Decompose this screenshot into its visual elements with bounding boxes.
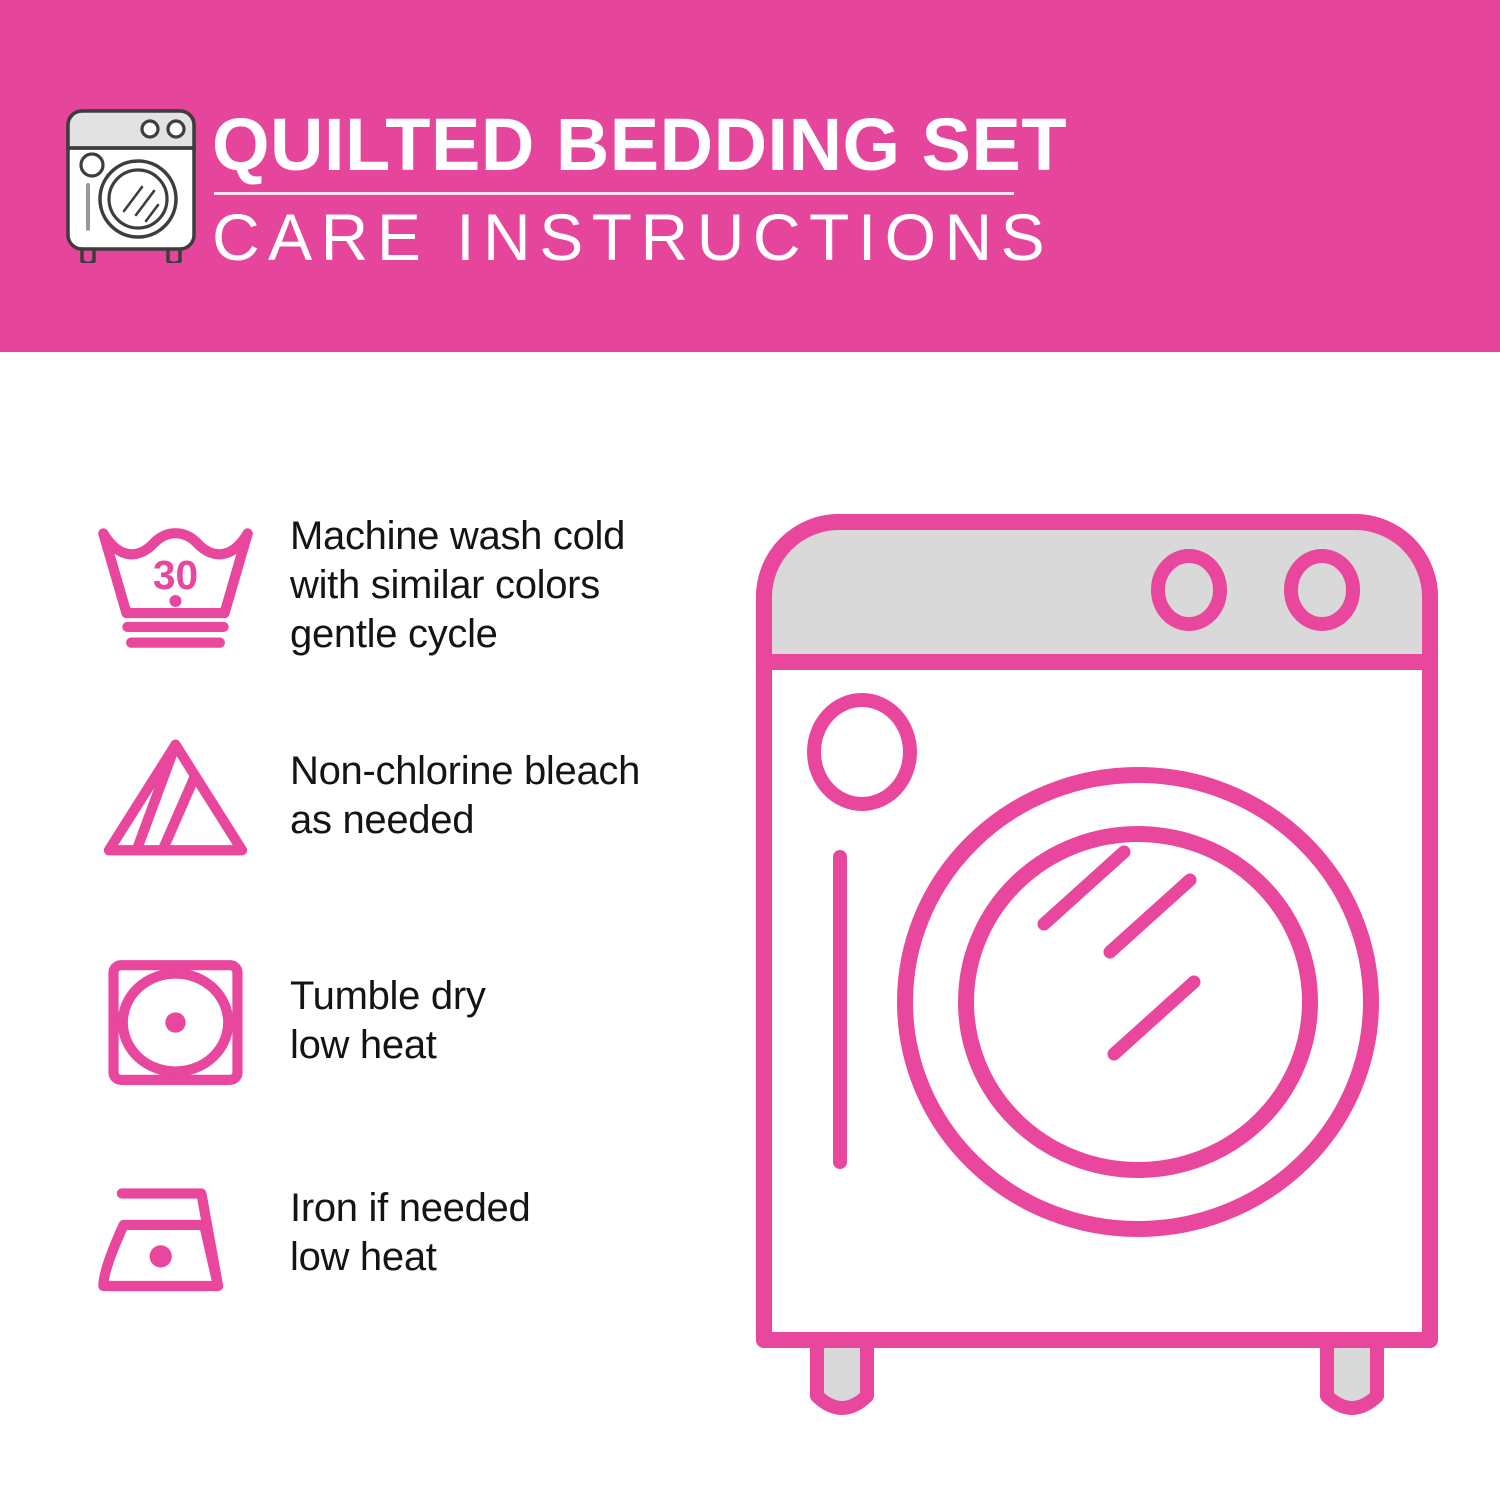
care-label-line: low heat (290, 1233, 530, 1282)
header-banner: QUILTED BEDDING SET CARE INSTRUCTIONS (0, 0, 1500, 352)
leg-right (1327, 1340, 1377, 1408)
wash-tub-30-gentle-icon: 30 (60, 502, 290, 662)
title-divider (214, 192, 1014, 195)
care-label-wash: Machine wash cold with similar colors ge… (290, 502, 625, 659)
care-label-iron: Iron if needed low heat (290, 1162, 530, 1282)
washing-machine-icon (62, 103, 200, 263)
header-text-block: QUILTED BEDDING SET CARE INSTRUCTIONS (212, 104, 1022, 275)
list-item: Tumble dry low heat (60, 942, 720, 1102)
care-label-line: Non-chlorine bleach (290, 747, 640, 796)
care-label-bleach: Non-chlorine bleach as needed (290, 717, 640, 845)
dial (814, 700, 910, 804)
wash-temp-label: 30 (152, 551, 197, 597)
iron-low-heat-icon (60, 1162, 290, 1322)
care-label-line: Machine wash cold (290, 512, 625, 561)
care-label-line: Iron if needed (290, 1184, 530, 1233)
tumble-dry-low-heat-icon (60, 942, 290, 1102)
drum (966, 834, 1310, 1170)
care-label-line: gentle cycle (290, 610, 625, 659)
page-title: QUILTED BEDDING SET (212, 104, 1022, 186)
care-label-line: Tumble dry (290, 972, 486, 1021)
leg-left (817, 1340, 867, 1408)
page-subtitle: CARE INSTRUCTIONS (212, 199, 1022, 275)
care-label-line: as needed (290, 796, 640, 845)
care-label-tumble-dry: Tumble dry low heat (290, 942, 486, 1070)
knob-right (1291, 556, 1353, 624)
care-label-line: with similar colors (290, 561, 625, 610)
list-item: Iron if needed low heat (60, 1162, 720, 1322)
care-label-line: low heat (290, 1021, 486, 1070)
front-load-washing-machine-illustration (742, 502, 1452, 1432)
non-chlorine-bleach-triangle-icon (60, 717, 290, 877)
knob-left (1158, 556, 1220, 624)
list-item: 30 Machine wash cold with similar colors… (60, 502, 720, 662)
list-item: Non-chlorine bleach as needed (60, 717, 720, 877)
content-area: 30 Machine wash cold with similar colors… (0, 352, 1500, 1500)
